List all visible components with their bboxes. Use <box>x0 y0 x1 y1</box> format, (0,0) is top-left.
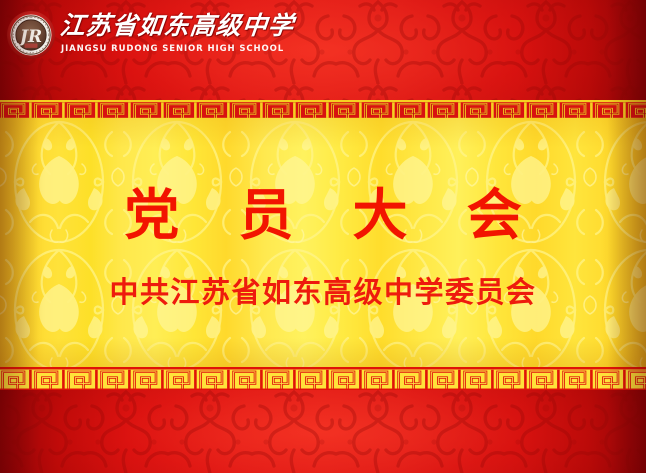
bottom-red-banner <box>0 390 646 473</box>
presentation-slide: JR 江苏省如东高级中学 JIANGSU RUDONG SENIOR HIGH … <box>0 0 646 473</box>
red-damask-pattern-bottom <box>0 390 646 473</box>
school-logo: JR 江苏省如东高级中学 JIANGSU RUDONG SENIOR HIGH … <box>6 8 238 62</box>
greek-key-border-top <box>0 101 646 119</box>
school-name-chinese: 江苏省如东高级中学 <box>58 10 239 42</box>
school-wordmark: 江苏省如东高级中学 JIANGSU RUDONG SENIOR HIGH SCH… <box>60 9 238 61</box>
subtitle: 中共江苏省如东高级中学委员会 <box>0 274 646 310</box>
page-title: 党 员 大 会 <box>0 182 646 248</box>
greek-key-border-bottom <box>0 368 646 390</box>
school-seal-icon: JR <box>6 10 56 60</box>
school-name-english: JIANGSU RUDONG SENIOR HIGH SCHOOL <box>61 44 284 55</box>
